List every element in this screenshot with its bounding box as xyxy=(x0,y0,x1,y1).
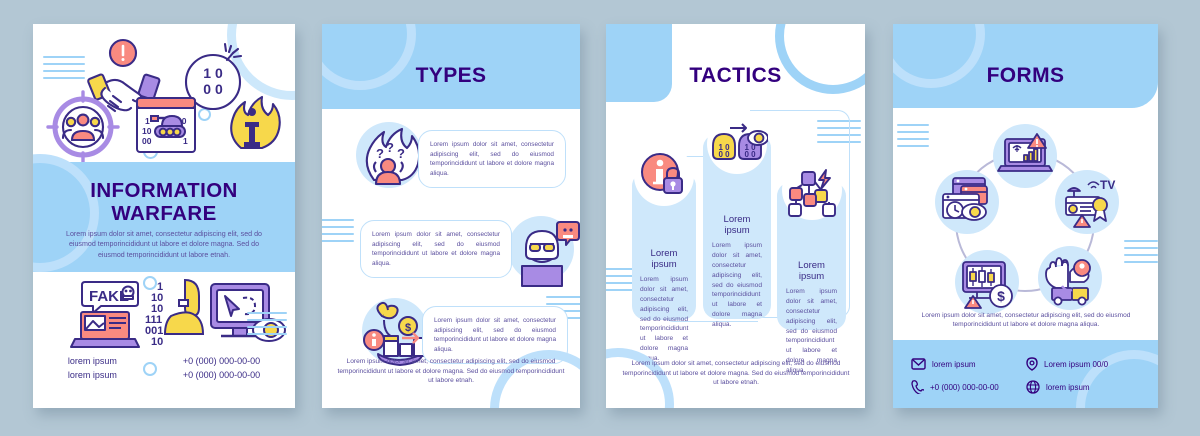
svg-text:1: 1 xyxy=(145,116,150,126)
svg-text:0 0: 0 0 xyxy=(718,150,730,159)
decor-lines-bottom-right xyxy=(247,312,287,340)
types-row-2-text: Lorem ipsum dolor sit amet, consectetur … xyxy=(372,230,500,269)
svg-text:?: ? xyxy=(386,140,394,155)
svg-text:TV: TV xyxy=(1100,178,1115,192)
cover-footer: lorem ipsum lorem ipsum +0 (000) 000-00-… xyxy=(33,355,295,382)
forms-node-tv[interactable]: TV xyxy=(1055,170,1119,234)
forms-node-protest[interactable] xyxy=(1038,246,1102,310)
contact-address[interactable]: Lorem ipsum 00/0 xyxy=(1026,357,1141,371)
cover-footer-left: lorem ipsum lorem ipsum xyxy=(68,355,117,382)
contact-website[interactable]: lorem ipsum xyxy=(1026,380,1141,394)
svg-text:0 0: 0 0 xyxy=(203,81,223,97)
fake-news-laptop-icon: FAKE xyxy=(71,282,139,347)
panel-tactics: TACTICS xyxy=(606,24,865,408)
tactics-card-1-heading: Lorem ipsum xyxy=(640,248,688,270)
binary-spy-icon: 1 10 10 111 001 10 xyxy=(145,280,203,348)
protest-truck-icon xyxy=(1040,248,1100,308)
panic-flame-icon: ? ? ? xyxy=(354,120,426,197)
contact-website-label: lorem ipsum xyxy=(1046,383,1090,392)
hacker-skull-icon xyxy=(508,214,580,293)
types-title: TYPES xyxy=(322,64,580,88)
tank-binary-icon: 1 10 00 10 0 1 xyxy=(137,98,195,152)
tactics-title: TACTICS xyxy=(606,64,865,88)
tactics-card-2-heading: Lorem ipsum xyxy=(712,214,762,236)
cover-icon-cluster-top: 1 0 0 0 xyxy=(33,30,295,162)
forms-node-windows[interactable] xyxy=(935,170,999,234)
tactics-card-3-heading: Lorem ipsum xyxy=(786,260,837,282)
phone-icon xyxy=(911,380,924,394)
cover-lead-text: Lorem ipsum dolor sit amet, consectetur … xyxy=(55,229,273,260)
globe-icon xyxy=(1026,380,1040,394)
decor-lines-forms-left xyxy=(897,124,929,152)
types-row-3-text: Lorem ipsum dolor sit amet, consectetur … xyxy=(434,316,556,355)
info-lock-icon xyxy=(634,146,694,211)
svg-text:1: 1 xyxy=(183,136,188,146)
svg-text:$: $ xyxy=(997,288,1005,304)
types-footer-text: Lorem ipsum dolor sit amet, consectetur … xyxy=(336,357,566,386)
page-title: INFORMATION WARFARE xyxy=(33,180,295,226)
tactics-card-2-text: Lorem ipsum dolor sit amet, consectetur … xyxy=(712,241,762,330)
tactics-footer-text: Lorem ipsum dolor sit amet, consectetur … xyxy=(620,359,852,388)
network-bolt-icon xyxy=(782,160,842,225)
svg-text:00: 00 xyxy=(142,136,152,146)
types-row-2-bubble: Lorem ipsum dolor sit amet, consectetur … xyxy=(360,220,512,278)
svg-text:10: 10 xyxy=(142,126,152,136)
tactics-corner-square xyxy=(606,24,672,102)
forms-title: FORMS xyxy=(893,64,1158,88)
svg-text:$: $ xyxy=(405,322,411,334)
decor-lines-forms-right xyxy=(1124,240,1158,268)
location-pin-icon xyxy=(1026,357,1038,371)
brochure-spread: 1 0 0 0 xyxy=(0,0,1200,436)
decor-dot-d xyxy=(143,276,157,290)
tactics-card-1-text: Lorem ipsum dolor sit amet, consectetur … xyxy=(640,275,688,364)
contact-email[interactable]: lorem ipsum xyxy=(911,357,1026,371)
contact-email-label: lorem ipsum xyxy=(932,360,976,369)
svg-text:10: 10 xyxy=(151,336,163,348)
contact-phone[interactable]: +0 (000) 000-00-00 xyxy=(911,380,1026,394)
svg-text:1 0: 1 0 xyxy=(203,65,223,81)
tactics-card-1[interactable]: Lorem ipsum Lorem ipsum dolor sit amet, … xyxy=(632,172,696,320)
tactics-card-2[interactable]: 1 0 0 0 1 0 0 0 Lorem ipsum Lorem ipsum … xyxy=(703,134,771,319)
contact-phone-label: +0 (000) 000-00-00 xyxy=(930,383,999,392)
envelope-icon xyxy=(911,358,926,370)
decor-dot-footer xyxy=(143,362,157,376)
forms-lead-text: Lorem ipsum dolor sit amet, consectetur … xyxy=(909,311,1143,330)
forms-node-stocks[interactable]: $ xyxy=(955,250,1019,314)
stocks-dollar-alert-icon: $ xyxy=(957,252,1017,312)
windows-clock-icon xyxy=(937,172,997,232)
svg-text:0 0: 0 0 xyxy=(744,150,756,159)
cover-footer-phones: +0 (000) 000-00-00 +0 (000) 000-00-00 xyxy=(183,355,260,382)
svg-text:?: ? xyxy=(397,146,405,161)
types-row-1-bubble: Lorem ipsum dolor sit amet, consectetur … xyxy=(418,130,566,188)
tv-broadcast-icon: TV xyxy=(1058,173,1116,231)
contact-address-label: Lorem ipsum 00/0 xyxy=(1044,360,1108,369)
forms-node-laptop[interactable] xyxy=(993,124,1057,188)
data-transfer-icon: 1 0 0 0 1 0 0 0 xyxy=(706,112,768,179)
svg-text:?: ? xyxy=(376,146,384,161)
tactics-card-3[interactable]: Lorem ipsum Lorem ipsum dolor sit amet, … xyxy=(777,182,846,330)
forms-contact-grid: lorem ipsum Lorem ipsum 00/0 +0 (000) 00… xyxy=(911,357,1141,394)
info-flame-icon xyxy=(231,97,280,148)
decor-lines-tactics-left xyxy=(606,268,634,296)
laptop-chart-alert-icon xyxy=(997,128,1053,184)
panel-cover: 1 0 0 0 xyxy=(33,24,295,408)
types-row-1-text: Lorem ipsum dolor sit amet, consectetur … xyxy=(430,140,554,179)
panel-forms: FORMS xyxy=(893,24,1158,408)
panel-types: TYPES ? ? ? Lorem ipsum dolor sit amet, … xyxy=(322,24,580,408)
decor-lines-types-left xyxy=(322,219,354,247)
